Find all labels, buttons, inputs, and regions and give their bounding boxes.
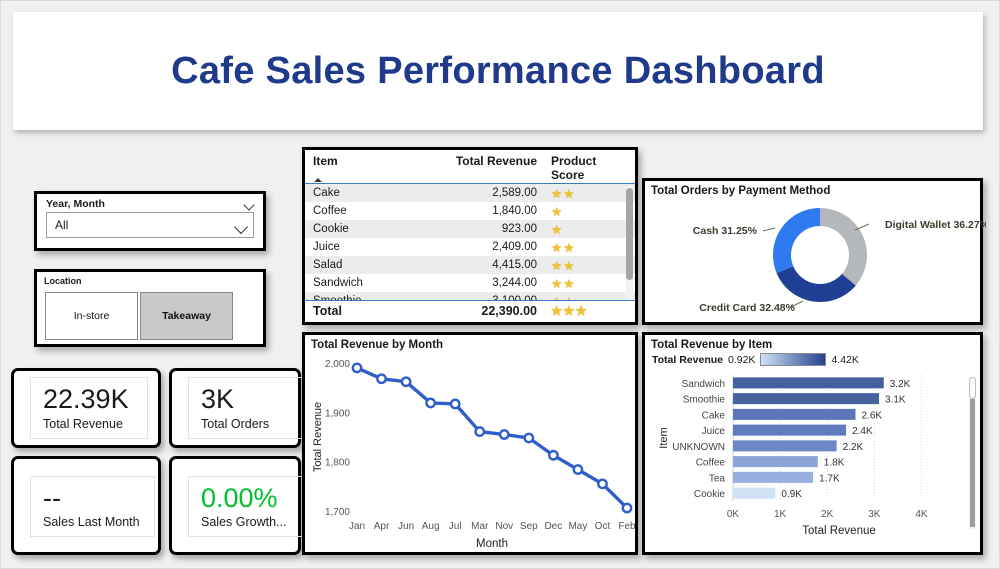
line-chart-x-tick-label: Sep — [520, 521, 538, 532]
title-banner: Cafe Sales Performance Dashboard — [13, 12, 983, 130]
chevron-down-icon[interactable] — [235, 220, 246, 231]
table-header-row: Item Total Revenue Product Score — [305, 150, 635, 184]
slicer-year-month-label: Year, Month — [46, 198, 105, 210]
chart-total-orders-by-payment-method[interactable]: Total Orders by Payment Method Digital W… — [642, 178, 983, 325]
line-chart-title: Total Revenue by Month — [305, 335, 635, 351]
star-icon: ★ — [551, 223, 562, 237]
bar-chart-bar[interactable] — [733, 377, 884, 388]
line-chart-data-point[interactable] — [500, 430, 508, 438]
donut-leader-line — [763, 228, 775, 231]
chart-total-revenue-by-month[interactable]: Total Revenue by Month 1,7001,8001,9002,… — [302, 332, 638, 555]
line-chart-x-tick-label: Nov — [495, 521, 513, 532]
star-icon: ★ — [575, 304, 586, 318]
bar-chart-data-label: 0.9K — [781, 489, 802, 500]
line-chart-y-axis-label: Total Revenue — [312, 402, 324, 472]
table-scrollbar[interactable] — [626, 186, 633, 300]
line-chart-x-tick-label: Aug — [422, 521, 440, 532]
slicer-location-label: Location — [37, 272, 263, 286]
star-icon: ★ — [551, 205, 562, 219]
kpi-total-revenue-value: 22.39K — [43, 385, 133, 413]
table-body[interactable]: Cake2,589.00★★Coffee1,840.00★Cookie923.0… — [305, 184, 635, 300]
bar-chart-scrollbar-thumb[interactable] — [969, 377, 976, 399]
star-icon: ★ — [563, 259, 574, 273]
bar-chart-title: Total Revenue by Item — [645, 335, 980, 351]
bar-chart-bar[interactable] — [733, 488, 775, 499]
bar-chart-scrollbar-track[interactable] — [970, 399, 975, 527]
table-row[interactable]: Juice2,409.00★★ — [305, 238, 635, 256]
table-total-row: Total 22,390.00 ★★★ — [305, 300, 635, 320]
line-chart-data-point[interactable] — [525, 434, 533, 442]
table-total-label: Total — [313, 304, 425, 318]
bar-chart-svg[interactable]: Sandwich3.2KSmoothie3.1KCake2.6KJuice2.4… — [645, 367, 980, 539]
chart-total-revenue-by-item[interactable]: Total Revenue by Item Total Revenue 0.92… — [642, 332, 983, 555]
table-cell-item: Smoothie — [313, 295, 425, 300]
table-cell-score: ★★ — [537, 294, 629, 301]
line-chart-y-tick-label: 1,800 — [325, 458, 350, 469]
line-chart-y-tick-label: 2,000 — [325, 359, 350, 370]
donut-segment-label: Credit Card 32.48% — [699, 302, 795, 314]
table-cell-item: Cookie — [313, 223, 425, 235]
slicer-year-month-dropdown[interactable]: All — [46, 212, 254, 238]
bar-chart-x-tick-label: 4K — [915, 509, 928, 520]
table-cell-score: ★★ — [537, 240, 629, 255]
line-chart-data-point[interactable] — [623, 504, 631, 512]
bar-chart-category-label[interactable]: Sandwich — [682, 379, 725, 390]
line-chart-data-point[interactable] — [426, 399, 434, 407]
table-cell-score: ★ — [537, 204, 629, 219]
kpi-total-revenue-inner: 22.39K Total Revenue — [30, 377, 148, 438]
bar-chart-category-label[interactable]: Cake — [702, 410, 726, 421]
bar-chart-bar[interactable] — [733, 472, 813, 483]
star-icon: ★ — [563, 295, 574, 301]
line-chart-data-point[interactable] — [476, 427, 484, 435]
table-cell-item: Cake — [313, 187, 425, 199]
donut-segment-label: Digital Wallet 36.27% — [885, 219, 986, 231]
bar-chart-data-label: 1.8K — [824, 458, 845, 469]
donut-segment-label: Cash 31.25% — [693, 225, 758, 237]
donut-chart-svg[interactable]: Digital Wallet 36.27%Credit Card 32.48%C… — [645, 197, 986, 315]
slicer-location[interactable]: Location In-store Takeaway — [34, 269, 266, 347]
line-chart-data-point[interactable] — [451, 400, 459, 408]
donut-segment[interactable] — [773, 208, 820, 273]
line-chart-x-tick-label: Dec — [544, 521, 562, 532]
table-cell-revenue: 923.00 — [425, 223, 537, 235]
donut-chart-title: Total Orders by Payment Method — [645, 181, 980, 197]
slicer-option-in-store-label: In-store — [74, 310, 110, 322]
line-chart-y-tick-label: 1,700 — [325, 507, 350, 518]
line-chart-data-point[interactable] — [574, 465, 582, 473]
kpi-sales-growth-value: 0.00% — [201, 484, 291, 512]
slicer-year-month-value: All — [55, 218, 68, 232]
line-chart-data-point[interactable] — [353, 364, 361, 372]
kpi-card-sales-last-month[interactable]: -- Sales Last Month — [11, 456, 161, 555]
bar-chart-bar[interactable] — [733, 425, 846, 436]
line-chart-svg[interactable]: 1,7001,8001,9002,000Total RevenueJanAprJ… — [305, 351, 635, 551]
table-cell-score: ★ — [537, 222, 629, 237]
bar-chart-x-tick-label: 1K — [774, 509, 787, 520]
bar-chart-category-label[interactable]: Smoothie — [683, 395, 726, 406]
slicer-year-month[interactable]: Year, Month All — [34, 191, 266, 251]
table-cell-revenue: 3,244.00 — [425, 277, 537, 289]
star-icon: ★ — [563, 187, 574, 201]
bar-chart-data-label: 2.4K — [852, 426, 873, 437]
table-row[interactable]: Coffee1,840.00★ — [305, 202, 635, 220]
dashboard-page: Cafe Sales Performance Dashboard Year, M… — [0, 0, 1000, 569]
bar-chart-bar[interactable] — [733, 393, 879, 404]
bar-chart-data-label: 2.6K — [861, 410, 882, 421]
line-chart-data-point[interactable] — [402, 378, 410, 386]
star-icon: ★ — [563, 241, 574, 255]
line-chart-data-point[interactable] — [549, 451, 557, 459]
donut-segment[interactable] — [777, 266, 856, 302]
line-chart-x-axis-label: Month — [476, 538, 508, 550]
table-cell-revenue: 2,589.00 — [425, 187, 537, 199]
line-chart-x-tick-label: Jul — [449, 521, 462, 532]
bar-chart-x-tick-label: 3K — [868, 509, 881, 520]
chevron-down-icon[interactable] — [244, 199, 255, 210]
table-cell-item: Salad — [313, 259, 425, 271]
bar-chart-bar[interactable] — [733, 409, 855, 420]
bar-legend-gradient — [760, 353, 826, 366]
star-icon: ★ — [551, 187, 562, 201]
table-total-revenue: 22,390.00 — [425, 304, 537, 318]
bar-chart-category-label[interactable]: Cookie — [694, 489, 726, 500]
bar-chart-bar[interactable] — [733, 440, 837, 451]
donut-segment[interactable] — [820, 208, 867, 286]
kpi-sales-growth-inner: 0.00% Sales Growth... — [188, 476, 306, 537]
kpi-sales-last-month-inner: -- Sales Last Month — [30, 476, 155, 537]
kpi-card-total-orders[interactable]: 3K Total Orders — [169, 368, 301, 448]
line-chart-data-point[interactable] — [377, 375, 385, 383]
table-cell-score: ★★ — [537, 258, 629, 273]
kpi-sales-last-month-label: Sales Last Month — [43, 515, 140, 529]
line-chart-x-tick-label: Apr — [374, 521, 390, 532]
star-icon: ★ — [551, 241, 562, 255]
table-cell-score: ★★ — [537, 276, 629, 291]
bar-chart-category-label[interactable]: Tea — [709, 473, 726, 484]
line-chart-x-tick-label: Oct — [595, 521, 611, 532]
table-row[interactable]: Cookie923.00★ — [305, 220, 635, 238]
table-cell-score: ★★ — [537, 186, 629, 201]
line-chart-x-tick-label: Jan — [349, 521, 365, 532]
bar-legend-min: 0.92K — [728, 354, 755, 366]
star-icon: ★ — [551, 277, 562, 291]
kpi-total-orders-inner: 3K Total Orders — [188, 377, 306, 438]
table-column-header-score[interactable]: Product Score — [537, 154, 629, 182]
line-chart-y-tick-label: 1,900 — [325, 408, 350, 419]
line-chart-x-tick-label: Jun — [398, 521, 414, 532]
table-visual-product-score[interactable]: Item Total Revenue Product Score Cake2,5… — [302, 147, 638, 325]
bar-chart-category-label[interactable]: UNKNOWN — [672, 442, 725, 453]
star-icon: ★ — [563, 277, 574, 291]
star-icon: ★ — [551, 259, 562, 273]
table-cell-item: Sandwich — [313, 277, 425, 289]
slicer-year-month-header[interactable]: Year, Month — [37, 194, 263, 212]
bar-chart-category-label[interactable]: Juice — [702, 426, 726, 437]
table-cell-revenue: 4,415.00 — [425, 259, 537, 271]
kpi-sales-growth-label: Sales Growth... — [201, 515, 291, 529]
slicer-option-takeaway-label: Takeaway — [162, 310, 211, 322]
bar-chart-y-axis-label: Item — [658, 427, 670, 448]
line-chart-x-tick-label: Feb — [618, 521, 635, 532]
sort-ascending-icon[interactable] — [314, 178, 322, 182]
table-column-header-item[interactable]: Item — [313, 154, 425, 182]
bar-legend-max: 4.42K — [831, 354, 858, 366]
slicer-option-in-store[interactable]: In-store — [45, 292, 138, 340]
bar-chart-category-label[interactable]: Coffee — [696, 458, 726, 469]
bar-chart-x-tick-label: 0K — [727, 509, 740, 520]
line-chart-data-point[interactable] — [598, 480, 606, 488]
bar-chart-data-label: 1.7K — [819, 473, 840, 484]
table-row[interactable]: Smoothie3,100.00★★ — [305, 292, 635, 300]
kpi-sales-last-month-value: -- — [43, 484, 140, 512]
line-chart-x-tick-label: Mar — [471, 521, 489, 532]
bar-chart-bar[interactable] — [733, 456, 818, 467]
table-row[interactable]: Sandwich3,244.00★★ — [305, 274, 635, 292]
kpi-total-revenue-label: Total Revenue — [43, 417, 133, 431]
kpi-total-orders-label: Total Orders — [201, 417, 291, 431]
bar-chart-data-label: 2.2K — [843, 442, 864, 453]
bar-chart-x-tick-label: 2K — [821, 509, 834, 520]
bar-chart-x-axis-label: Total Revenue — [802, 525, 876, 537]
kpi-card-total-revenue[interactable]: 22.39K Total Revenue — [11, 368, 161, 448]
table-row[interactable]: Salad4,415.00★★ — [305, 256, 635, 274]
star-icon: ★ — [551, 304, 562, 318]
kpi-total-orders-value: 3K — [201, 385, 291, 413]
slicer-location-options: In-store Takeaway — [37, 286, 263, 340]
page-title: Cafe Sales Performance Dashboard — [171, 50, 825, 93]
table-cell-revenue: 1,840.00 — [425, 205, 537, 217]
line-chart-x-tick-label: May — [568, 521, 587, 532]
table-total-score-stars: ★★★ — [537, 303, 629, 318]
donut-chart-area: Digital Wallet 36.27%Credit Card 32.48%C… — [645, 197, 980, 315]
slicer-option-takeaway[interactable]: Takeaway — [140, 292, 233, 340]
table-row[interactable]: Cake2,589.00★★ — [305, 184, 635, 202]
star-icon: ★ — [563, 304, 574, 318]
table-column-header-revenue[interactable]: Total Revenue — [425, 154, 537, 182]
table-scrollbar-thumb[interactable] — [626, 188, 633, 280]
kpi-card-sales-growth[interactable]: 0.00% Sales Growth... — [169, 456, 301, 555]
bar-legend-title: Total Revenue — [652, 354, 723, 366]
bar-chart-data-label: 3.1K — [885, 395, 906, 406]
line-chart-series[interactable] — [357, 368, 627, 508]
product-score-table: Item Total Revenue Product Score Cake2,5… — [305, 150, 635, 320]
bar-chart-scrollbar[interactable] — [969, 377, 976, 529]
bar-chart-data-label: 3.2K — [890, 379, 911, 390]
table-cell-item: Juice — [313, 241, 425, 253]
bar-chart-legend: Total Revenue 0.92K 4.42K — [645, 351, 980, 367]
table-cell-revenue: 2,409.00 — [425, 241, 537, 253]
star-icon: ★ — [551, 295, 562, 301]
table-cell-item: Coffee — [313, 205, 425, 217]
table-cell-revenue: 3,100.00 — [425, 295, 537, 300]
